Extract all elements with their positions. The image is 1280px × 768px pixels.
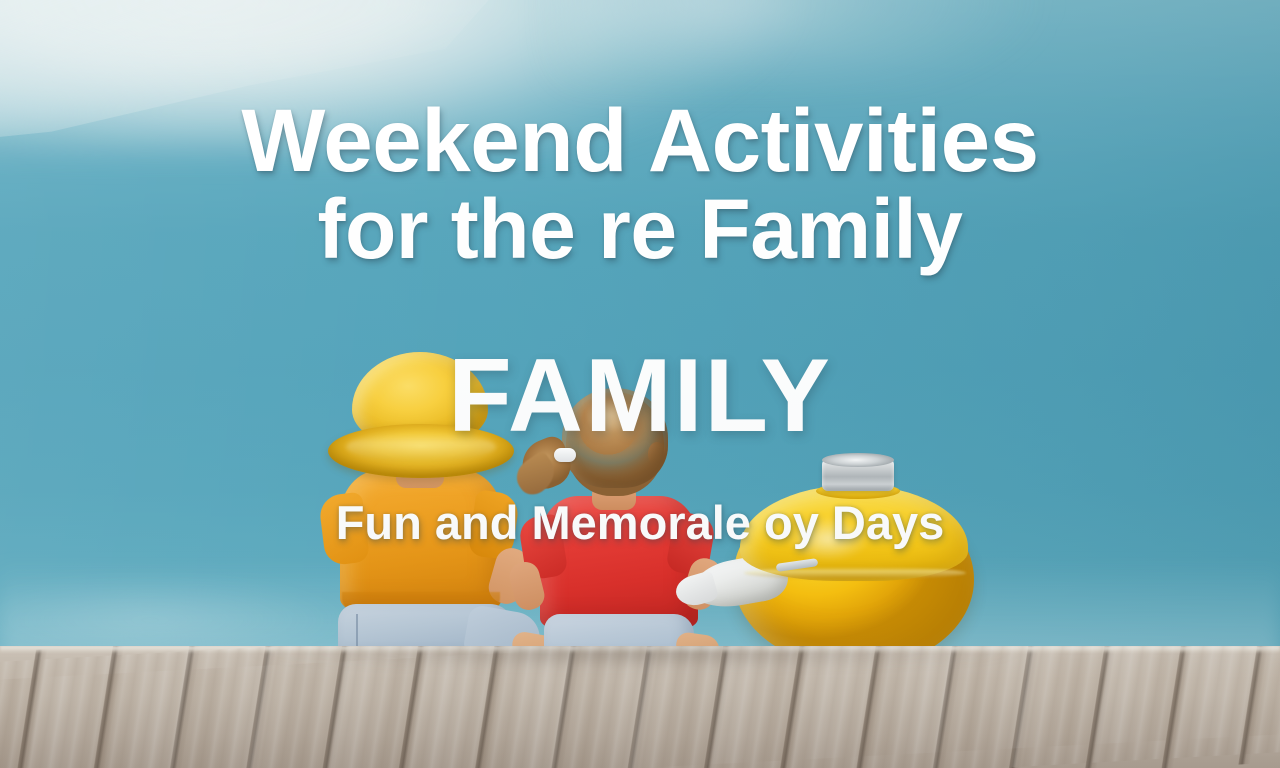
poster-canvas: Weekend Activities for the re Family FAM… (0, 0, 1280, 768)
headline-line-1: Weekend Activities (241, 90, 1038, 190)
text-overlay: Weekend Activities for the re Family FAM… (0, 0, 1280, 768)
feature-word-family: FAMILY (0, 344, 1280, 448)
poster-headline: Weekend Activities for the re Family (0, 96, 1280, 271)
poster-subtitle: Fun and Memorale oy Days (0, 499, 1280, 546)
headline-line-2: for the re Family (0, 188, 1280, 271)
